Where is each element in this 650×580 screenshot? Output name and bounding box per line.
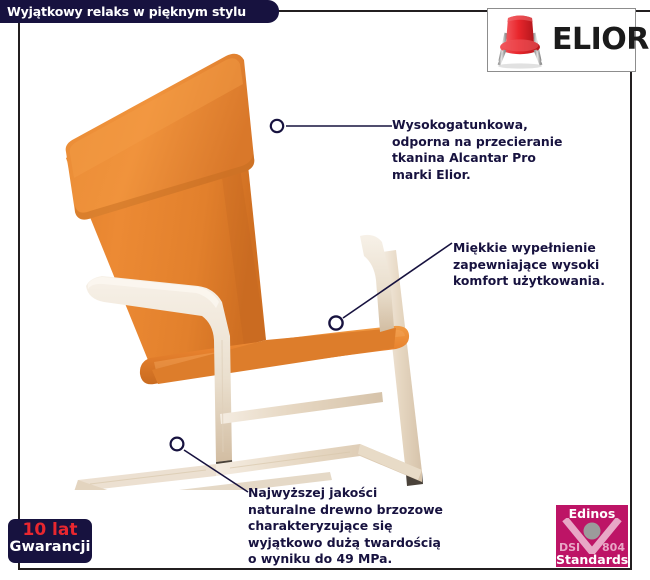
product-chair-illustration [30, 40, 450, 490]
chair-logo-icon [492, 11, 548, 69]
certification-badge: Edinos DSI 804 Standards [556, 505, 628, 567]
warranty-badge: 10 lat Gwarancji [8, 519, 92, 563]
frame-border-bottom [18, 568, 632, 570]
frame-border-left [18, 22, 20, 570]
frame-border-right [630, 10, 632, 570]
certification-label: Standards [556, 552, 628, 567]
callout-text-fabric: Wysokogatunkowa, odporna na przecieranie… [392, 117, 642, 183]
warranty-years: 10 lat [8, 521, 92, 540]
warranty-label: Gwarancji [8, 540, 92, 556]
callout-text-wood: Najwyższej jakości naturalne drewno brzo… [248, 485, 508, 568]
page-title: Wyjątkowy relaks w pięknym stylu [0, 4, 246, 19]
brand-logo: ELIOR [487, 8, 636, 72]
infographic-page: Wyjątkowy relaks w pięknym stylu [0, 0, 650, 580]
header-banner: Wyjątkowy relaks w pięknym stylu [0, 0, 279, 23]
brand-wordmark: ELIOR [552, 25, 649, 55]
callout-text-padding: Miękkie wypełnienie zapewniające wysoki … [453, 240, 645, 290]
